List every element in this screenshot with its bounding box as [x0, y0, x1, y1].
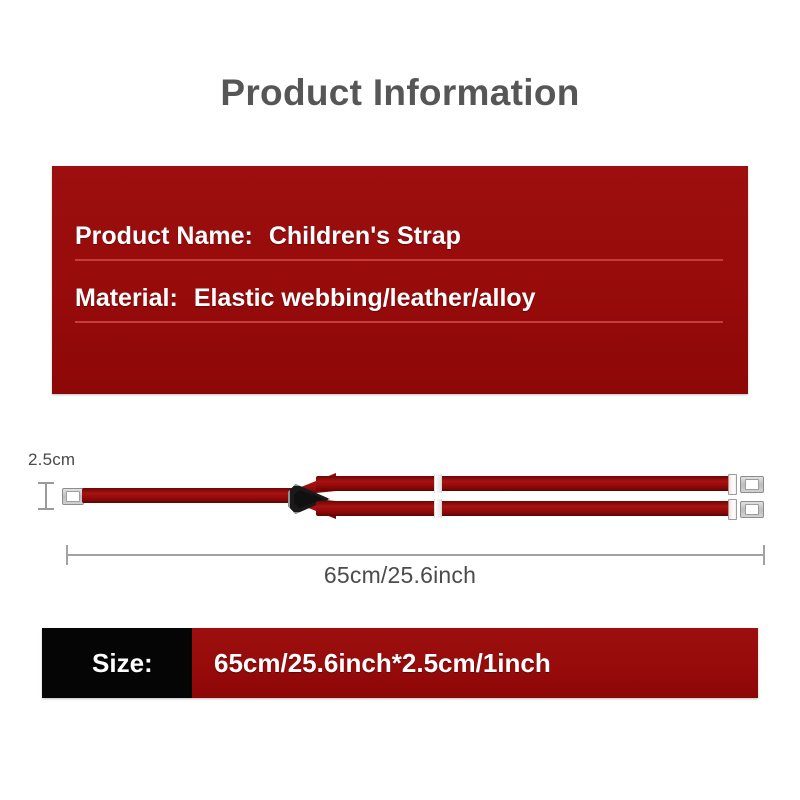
- size-banner: Size: 65cm/25.6inch*2.5cm/1inch: [42, 628, 758, 698]
- info-row-material: Material:Elastic webbing/leather/alloy: [75, 284, 725, 323]
- product-information-page: Product Information Product Name:Childre…: [0, 0, 800, 800]
- size-label: Size:: [92, 648, 153, 679]
- material-value: Elastic webbing/leather/alloy: [194, 284, 536, 312]
- material-line: Material:Elastic webbing/leather/alloy: [75, 284, 725, 313]
- info-row-divider: [75, 259, 723, 261]
- strap-single-segment: [82, 488, 296, 503]
- dimension-line: [66, 554, 765, 556]
- product-name-label: Product Name:: [75, 222, 253, 250]
- strap-width-label: 2.5cm: [28, 450, 75, 470]
- strap-branch-lower: [316, 501, 734, 516]
- strap-tip-upper: [728, 474, 737, 495]
- size-label-block: Size:: [42, 628, 192, 698]
- size-value-block: 65cm/25.6inch*2.5cm/1inch: [192, 628, 758, 698]
- strap-clip-left-eye: [66, 491, 80, 502]
- info-row-divider: [75, 321, 723, 323]
- strap-clip-upper-right-eye: [745, 479, 759, 490]
- width-measure-stem: [45, 482, 47, 510]
- product-info-panel: Product Name:Children's Strap Material:E…: [52, 166, 748, 394]
- strap-clip-lower-right-eye: [745, 504, 759, 515]
- strap-adjuster-upper: [434, 474, 442, 493]
- strap-length-label: 65cm/25.6inch: [0, 562, 800, 589]
- page-title: Product Information: [0, 72, 800, 114]
- material-label: Material:: [75, 284, 178, 312]
- strap-branch-upper: [316, 476, 734, 491]
- product-name-line: Product Name:Children's Strap: [75, 222, 725, 251]
- strap-illustration: 2.5cm: [0, 440, 800, 550]
- strap-adjuster-lower: [434, 499, 442, 518]
- length-dimension: 65cm/25.6inch: [0, 545, 800, 595]
- width-measure-icon: [38, 482, 54, 510]
- width-measure-cap-bottom: [38, 508, 54, 510]
- size-value: 65cm/25.6inch*2.5cm/1inch: [214, 648, 551, 679]
- info-row-product-name: Product Name:Children's Strap: [75, 222, 725, 261]
- strap-tip-lower: [728, 499, 737, 520]
- product-name-value: Children's Strap: [269, 222, 461, 250]
